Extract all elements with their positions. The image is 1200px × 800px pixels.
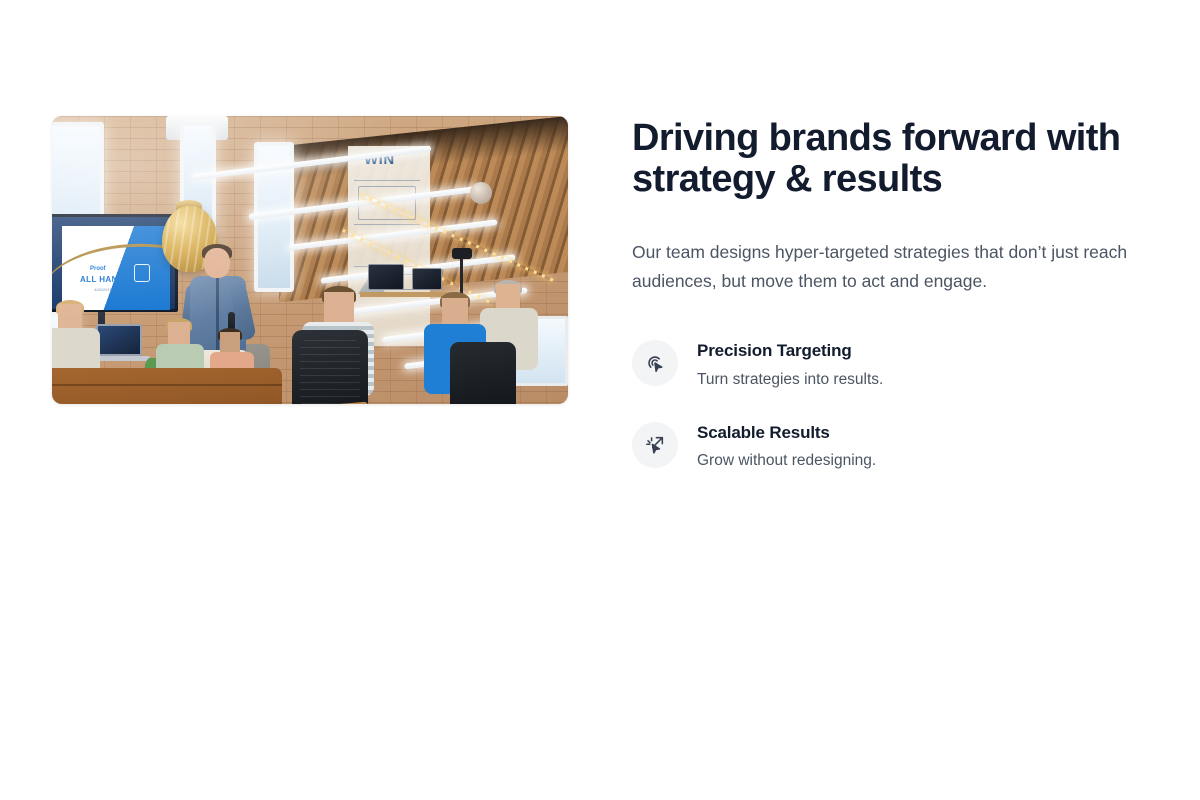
ceiling-speaker <box>470 182 492 204</box>
feature-description: Grow without redesigning. <box>697 451 876 472</box>
mural-line <box>354 180 420 181</box>
hero-image: WIN Proof ALL HANDS 4/26/2019 <box>52 116 568 404</box>
tripod-head <box>452 248 472 259</box>
attendee-head <box>324 292 354 326</box>
office-chair <box>450 342 516 404</box>
feature-title: Precision Targeting <box>697 341 883 361</box>
presenter-head <box>204 248 230 278</box>
hero-description: Our team designs hyper-targeted strategi… <box>632 238 1148 295</box>
chair-mesh <box>300 340 360 404</box>
page-title: Driving brands forward with strategy & r… <box>632 118 1132 199</box>
hero-section: WIN Proof ALL HANDS 4/26/2019 <box>52 116 1148 472</box>
background-monitor <box>412 268 442 290</box>
shirt-placket <box>216 278 219 352</box>
arrow-expand-diagonal-icon <box>632 422 678 468</box>
laptop <box>96 324 142 356</box>
background-monitor <box>368 264 404 290</box>
hero-copy: Driving brands forward with strategy & r… <box>632 116 1148 472</box>
mural-line <box>354 224 420 225</box>
feature-list: Precision Targeting Turn strategies into… <box>632 340 1148 472</box>
feature-item-scalable-results: Scalable Results Grow without redesignin… <box>632 422 1148 472</box>
feature-title: Scalable Results <box>697 423 876 443</box>
feature-text: Precision Targeting Turn strategies into… <box>697 340 883 390</box>
feature-text: Scalable Results Grow without redesignin… <box>697 422 876 472</box>
wall-mural <box>348 146 430 346</box>
feature-item-precision-targeting: Precision Targeting Turn strategies into… <box>632 340 1148 390</box>
cursor-arrow-ripple-icon <box>632 340 678 386</box>
feature-description: Turn strategies into results. <box>697 370 883 391</box>
leather-couch <box>52 368 282 404</box>
couch-seam <box>52 384 282 386</box>
